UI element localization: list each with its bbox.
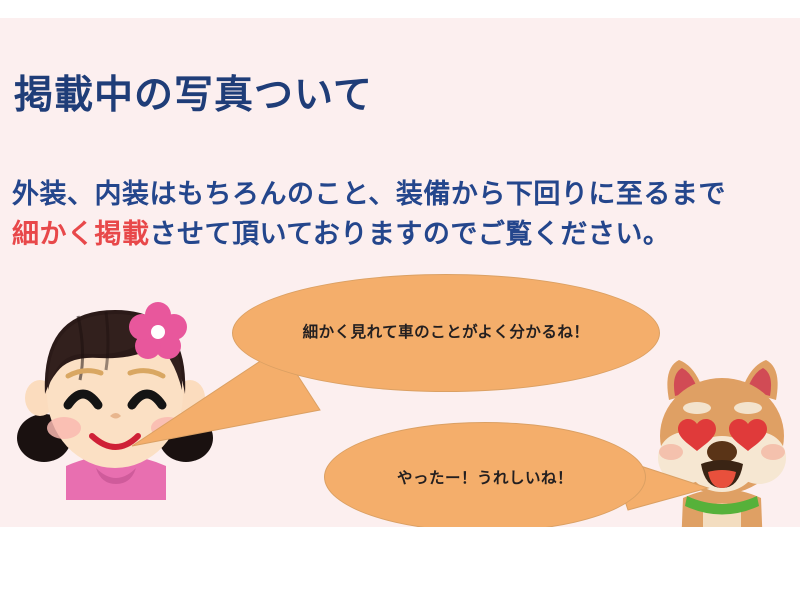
shiba-inu-dog-illustration <box>645 348 800 527</box>
speech-bubble-girl: 細かく見れて車のことがよく分かるね！ <box>232 274 660 392</box>
page-title: 掲載中の写真ついて <box>14 76 373 115</box>
body-line-1: 外装、内装はもちろんのこと、装備から下回りに至るまで <box>12 181 726 208</box>
slide-canvas: 掲載中の写真ついて 外装、内装はもちろんのこと、装備から下回りに至るまで 細かく… <box>0 18 800 527</box>
speech-bubble-girl-text: 細かく見れて車のことがよく分かるね！ <box>303 320 590 342</box>
letterbox-bottom <box>0 527 800 600</box>
speech-bubble-dog-text: やったー！うれしいね！ <box>397 466 573 488</box>
body-line-2-rest: させて頂いておりますのでご覧ください。 <box>150 219 671 249</box>
body-line-2: 細かく掲載させて頂いておりますのでご覧ください。 <box>12 221 670 248</box>
flower-hairpin-icon <box>129 302 187 359</box>
smiling-girl-illustration <box>18 270 214 500</box>
speech-bubble-dog: やったー！うれしいね！ <box>324 422 646 527</box>
body-line-2-highlight: 細かく掲載 <box>12 219 150 249</box>
letterbox-top <box>0 0 800 18</box>
slide-screenshot: 掲載中の写真ついて 外装、内装はもちろんのこと、装備から下回りに至るまで 細かく… <box>0 0 800 600</box>
